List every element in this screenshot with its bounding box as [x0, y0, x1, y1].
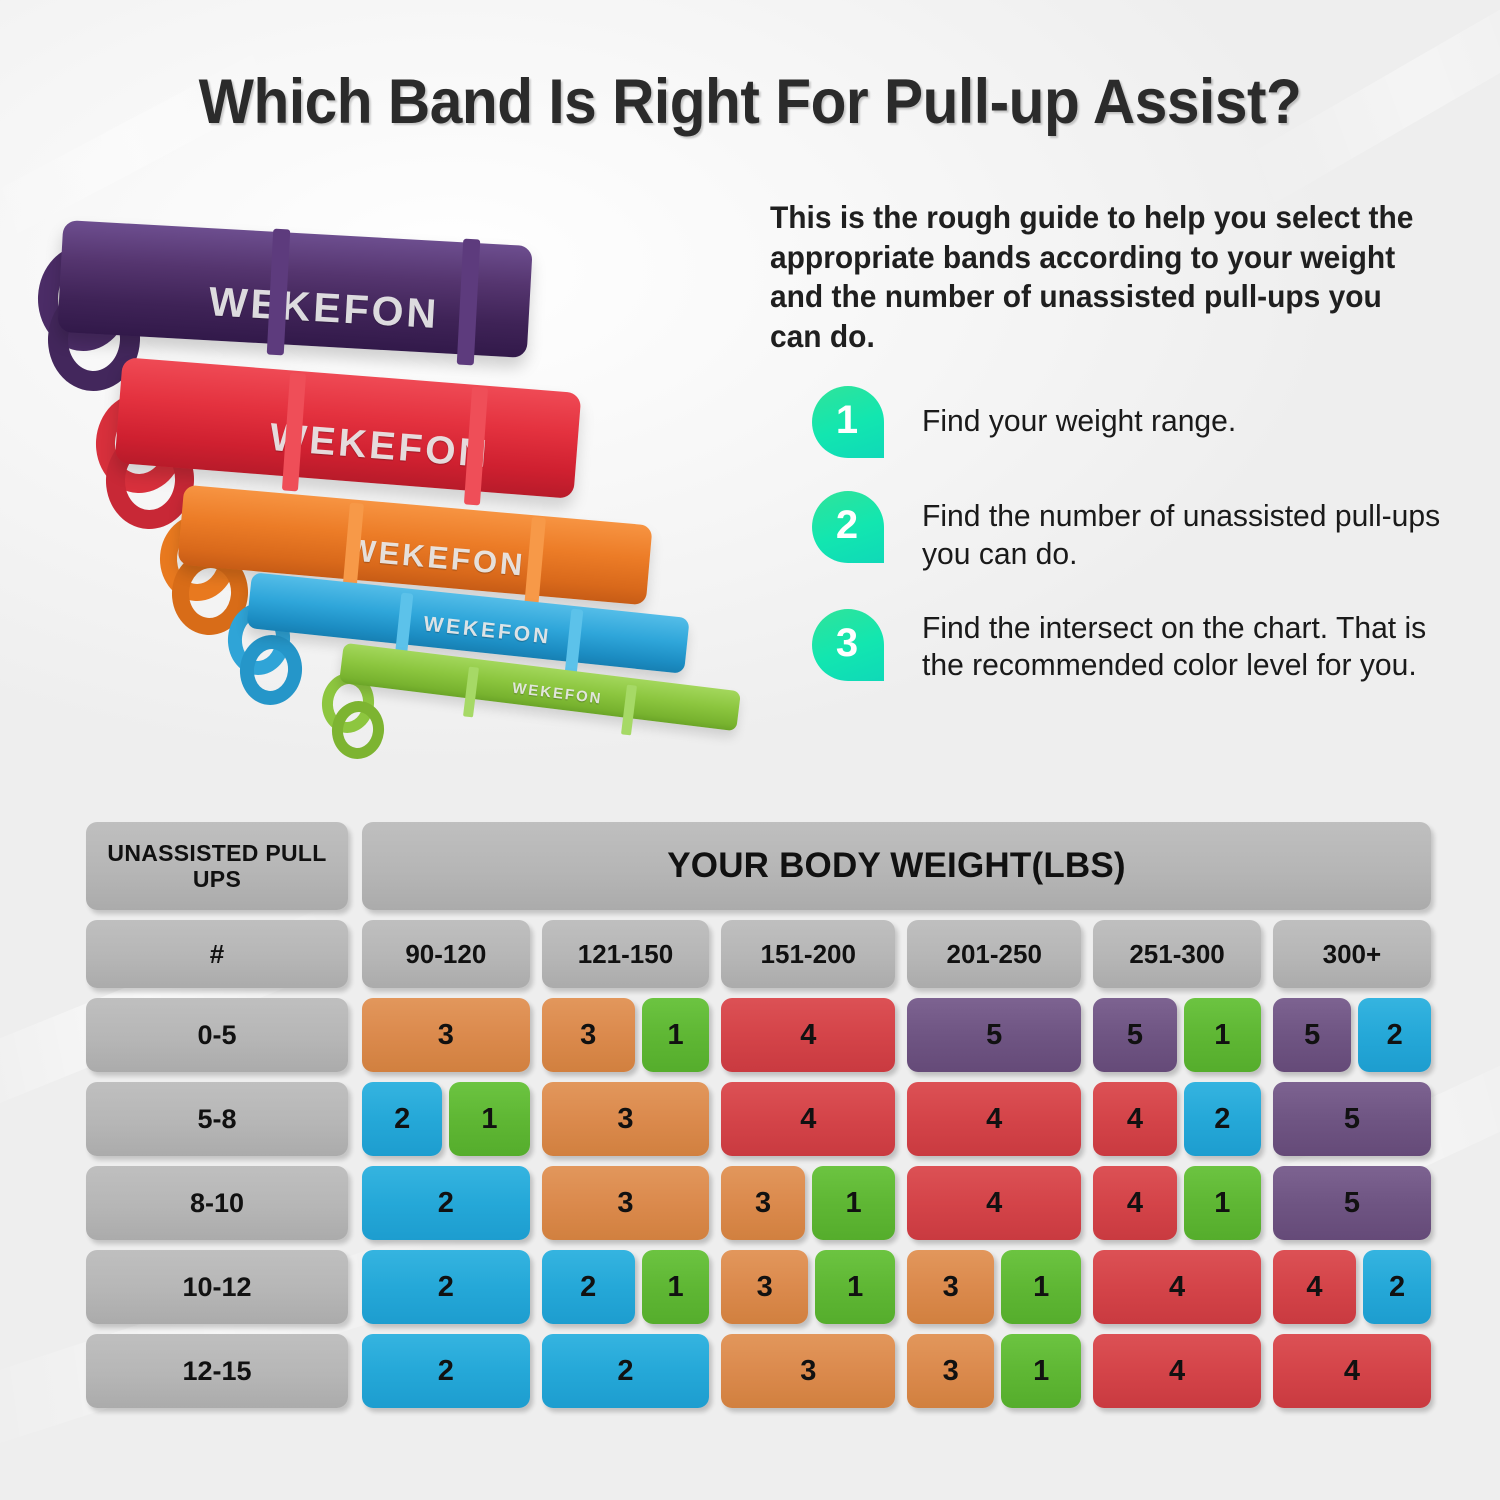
chart-cell-level-1[interactable]: 1: [449, 1082, 529, 1156]
cell-group-201-250: 4: [907, 1082, 1081, 1156]
column-header-90-120: 90-120: [362, 920, 530, 988]
column-header-label: 300+: [1273, 920, 1431, 988]
cell-group-300+: 4: [1273, 1334, 1431, 1408]
table-row: 8-1023314415: [86, 1166, 1431, 1240]
cell-group-201-250: 31: [907, 1334, 1081, 1408]
table-header-row-columns: # 90-120121-150151-200201-250251-300300+: [86, 920, 1431, 988]
table-body: 0-53314551525-8213444258-102331441510-12…: [86, 998, 1431, 1408]
cell-group-251-300: 4: [1093, 1334, 1261, 1408]
chart-cell-level-3[interactable]: 3: [907, 1334, 994, 1408]
cell-group-251-300: 4: [1093, 1250, 1261, 1324]
cell-group-251-300: 51: [1093, 998, 1261, 1072]
cell-group-201-250: 4: [907, 1166, 1081, 1240]
cell-group-121-150: 2: [542, 1334, 710, 1408]
chart-cell-level-3[interactable]: 3: [542, 1166, 710, 1240]
column-header-label: 121-150: [542, 920, 710, 988]
chart-cell-level-4[interactable]: 4: [1093, 1334, 1261, 1408]
chart-cell-level-4[interactable]: 4: [907, 1082, 1081, 1156]
page-title: Which Band Is Right For Pull-up Assist?: [53, 66, 1448, 138]
row-data-cells: 21344425: [362, 1082, 1431, 1156]
cell-group-121-150: 31: [542, 998, 710, 1072]
cell-group-121-150: 3: [542, 1166, 710, 1240]
brand-wordmark: WEKEFON: [422, 612, 552, 649]
chart-cell-level-2[interactable]: 2: [1363, 1250, 1431, 1324]
header-hash: #: [86, 920, 348, 988]
steps-list: 1 Find your weight range. 2 Find the num…: [812, 386, 1472, 717]
chart-cell-level-1[interactable]: 1: [815, 1250, 895, 1324]
cell-group-90-120: 2: [362, 1334, 530, 1408]
step-number-badge: 1: [812, 386, 884, 458]
row-label-cell: 12-15: [86, 1334, 348, 1408]
row-data-cells: 2233144: [362, 1334, 1431, 1408]
table-row: 10-122213131442: [86, 1250, 1431, 1324]
recommendation-chart: UNASSISTED PULL UPS YOUR BODY WEIGHT(LBS…: [86, 822, 1431, 1418]
cell-group-151-200: 31: [721, 1250, 895, 1324]
chart-cell-level-1[interactable]: 1: [1001, 1334, 1081, 1408]
chart-cell-level-2[interactable]: 2: [1358, 998, 1431, 1072]
column-header-251-300: 251-300: [1093, 920, 1261, 988]
chart-cell-level-1[interactable]: 1: [1184, 1166, 1261, 1240]
cell-group-201-250: 5: [907, 998, 1081, 1072]
cell-group-300+: 52: [1273, 998, 1431, 1072]
chart-cell-level-5[interactable]: 5: [1273, 1166, 1431, 1240]
chart-cell-level-1[interactable]: 1: [642, 998, 709, 1072]
row-label-cell: 10-12: [86, 1250, 348, 1324]
column-header-label: 251-300: [1093, 920, 1261, 988]
chart-cell-level-1[interactable]: 1: [812, 1166, 895, 1240]
row-label-cell: 8-10: [86, 1166, 348, 1240]
step-number-badge: 3: [812, 609, 884, 681]
cell-group-151-200: 4: [721, 1082, 895, 1156]
chart-cell-level-2[interactable]: 2: [362, 1166, 530, 1240]
step-text: Find the number of unassisted pull-ups y…: [922, 491, 1456, 573]
table-row: 0-5331455152: [86, 998, 1431, 1072]
chart-cell-level-3[interactable]: 3: [362, 998, 530, 1072]
chart-cell-level-5[interactable]: 5: [1093, 998, 1177, 1072]
chart-cell-level-5[interactable]: 5: [907, 998, 1081, 1072]
cell-group-90-120: 2: [362, 1250, 530, 1324]
cell-group-201-250: 31: [907, 1250, 1081, 1324]
row-label-cell: 0-5: [86, 998, 348, 1072]
brand-wordmark: WEKEFON: [345, 532, 527, 584]
header-unassisted-pull-ups: UNASSISTED PULL UPS: [86, 822, 348, 910]
row-data-cells: 331455152: [362, 998, 1431, 1072]
column-header-300+: 300+: [1273, 920, 1431, 988]
intro-paragraph: This is the rough guide to help you sele…: [770, 198, 1435, 357]
step-text: Find your weight range.: [922, 386, 1456, 440]
column-header-151-200: 151-200: [721, 920, 895, 988]
chart-cell-level-4[interactable]: 4: [1273, 1334, 1431, 1408]
cell-group-300+: 42: [1273, 1250, 1431, 1324]
step-text: Find the intersect on the chart. That is…: [922, 609, 1456, 685]
chart-cell-level-4[interactable]: 4: [1093, 1166, 1177, 1240]
table-row: 12-152233144: [86, 1334, 1431, 1408]
table-header-row-top: UNASSISTED PULL UPS YOUR BODY WEIGHT(LBS…: [86, 822, 1431, 910]
cell-group-151-200: 3: [721, 1334, 895, 1408]
header-your-body-weight: YOUR BODY WEIGHT(LBS): [362, 822, 1431, 910]
cell-group-121-150: 21: [542, 1250, 710, 1324]
row-label: 12-15: [86, 1334, 348, 1408]
chart-cell-level-4[interactable]: 4: [721, 998, 895, 1072]
column-header-label: 90-120: [362, 920, 530, 988]
column-header-label: 151-200: [721, 920, 895, 988]
cell-group-300+: 5: [1273, 1082, 1431, 1156]
row-label: 5-8: [86, 1082, 348, 1156]
chart-cell-level-3[interactable]: 3: [542, 998, 635, 1072]
chart-cell-level-3[interactable]: 3: [542, 1082, 710, 1156]
cell-group-90-120: 2: [362, 1166, 530, 1240]
row-label: 10-12: [86, 1250, 348, 1324]
step-item: 2 Find the number of unassisted pull-ups…: [812, 491, 1472, 573]
row-label: 0-5: [86, 998, 348, 1072]
chart-cell-level-4[interactable]: 4: [1273, 1250, 1356, 1324]
chart-cell-level-5[interactable]: 5: [1273, 1082, 1431, 1156]
cell-group-151-200: 4: [721, 998, 895, 1072]
step-number-badge: 2: [812, 491, 884, 563]
chart-cell-level-3[interactable]: 3: [721, 1334, 895, 1408]
chart-cell-level-5[interactable]: 5: [1273, 998, 1352, 1072]
chart-cell-level-2[interactable]: 2: [362, 1082, 442, 1156]
chart-cell-level-4[interactable]: 4: [1093, 1250, 1261, 1324]
column-header-201-250: 201-250: [907, 920, 1081, 988]
chart-cell-level-3[interactable]: 3: [721, 1250, 808, 1324]
cell-group-300+: 5: [1273, 1166, 1431, 1240]
cell-group-121-150: 3: [542, 1082, 710, 1156]
chart-cell-level-2[interactable]: 2: [1184, 1082, 1261, 1156]
row-label: 8-10: [86, 1166, 348, 1240]
chart-cell-level-1[interactable]: 1: [1184, 998, 1261, 1072]
cell-group-251-300: 41: [1093, 1166, 1261, 1240]
brand-wordmark: WEKEFON: [208, 278, 441, 338]
brand-wordmark: WEKEFON: [511, 679, 603, 707]
chart-cell-level-2[interactable]: 2: [542, 1334, 710, 1408]
table-row: 5-821344425: [86, 1082, 1431, 1156]
infographic-page: Which Band Is Right For Pull-up Assist? …: [0, 0, 1500, 1500]
step-item: 3 Find the intersect on the chart. That …: [812, 609, 1472, 685]
chart-cell-level-4[interactable]: 4: [721, 1082, 895, 1156]
step-item: 1 Find your weight range.: [812, 386, 1472, 458]
row-data-cells: 23314415: [362, 1166, 1431, 1240]
chart-cell-level-1[interactable]: 1: [1001, 1250, 1081, 1324]
chart-cell-level-2[interactable]: 2: [362, 1250, 530, 1324]
cell-group-251-300: 42: [1093, 1082, 1261, 1156]
band-orange: WEKEFON: [177, 485, 652, 606]
product-photo-resistance-bands: WEKEFON WEKEFON WEKEFON WEKEFON WEKEFON: [30, 215, 760, 775]
chart-cell-level-2[interactable]: 2: [542, 1250, 635, 1324]
chart-cell-level-4[interactable]: 4: [1093, 1082, 1177, 1156]
row-label-cell: 5-8: [86, 1082, 348, 1156]
cell-group-151-200: 31: [721, 1166, 895, 1240]
cell-group-90-120: 3: [362, 998, 530, 1072]
row-data-cells: 2213131442: [362, 1250, 1431, 1324]
chart-cell-level-2[interactable]: 2: [362, 1334, 530, 1408]
chart-cell-level-1[interactable]: 1: [642, 1250, 709, 1324]
chart-cell-level-3[interactable]: 3: [907, 1250, 994, 1324]
cell-group-90-120: 21: [362, 1082, 530, 1156]
column-header-label: 201-250: [907, 920, 1081, 988]
column-header-121-150: 121-150: [542, 920, 710, 988]
chart-cell-level-3[interactable]: 3: [721, 1166, 804, 1240]
chart-cell-level-4[interactable]: 4: [907, 1166, 1081, 1240]
